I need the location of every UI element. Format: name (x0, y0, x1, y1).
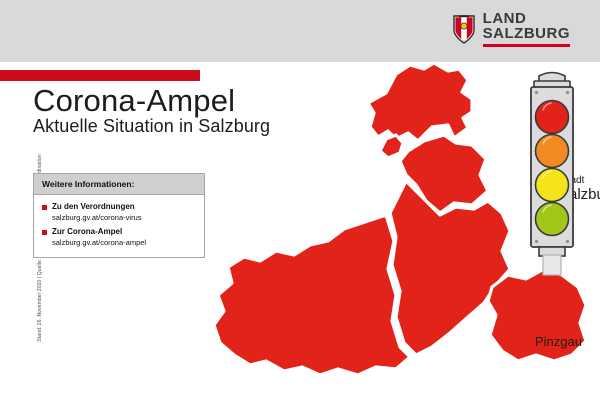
logo-line-2: SALZBURG (483, 26, 570, 41)
info-link-url[interactable]: salzburg.gv.at/corona-ampel (52, 238, 196, 247)
lamp-orange (536, 135, 569, 168)
map-region-pinzgau (214, 215, 410, 375)
info-link-item[interactable]: Zu den Verordnungen salzburg.gv.at/coron… (42, 202, 196, 222)
corona-ampel-signal (521, 66, 583, 276)
info-link-label: Zur Corona-Ampel (52, 227, 122, 237)
info-box-heading: Weitere Informationen: (34, 174, 204, 195)
info-link-item[interactable]: Zur Corona-Ampel salzburg.gv.at/corona-a… (42, 227, 196, 247)
bullet-square-icon (42, 205, 47, 210)
title-accent-bar (0, 70, 200, 81)
info-box-body: Zu den Verordnungen salzburg.gv.at/coron… (34, 195, 204, 257)
lamp-rot (536, 101, 569, 134)
lamp-gelb (536, 169, 569, 202)
info-link-url[interactable]: salzburg.gv.at/corona-virus (52, 213, 196, 222)
bullet-square-icon (42, 230, 47, 235)
land-salzburg-logo: LAND SALZBURG (453, 11, 570, 47)
map-region-flachgau (368, 63, 472, 141)
info-box: Weitere Informationen: Zu den Verordnung… (33, 173, 205, 258)
poster-canvas: LAND SALZBURG Corona-Ampel Aktuelle Situ… (0, 0, 600, 400)
coat-of-arms-icon (453, 14, 475, 44)
page-title: Corona-Ampel (33, 83, 235, 119)
logo-underline (483, 44, 570, 47)
info-link-label: Zu den Verordnungen (52, 202, 135, 212)
logo-line-1: LAND (483, 11, 570, 26)
lamp-gruen (536, 203, 569, 236)
map-region-lungau (488, 269, 586, 361)
map-region-stadt-salzburg (380, 135, 403, 158)
